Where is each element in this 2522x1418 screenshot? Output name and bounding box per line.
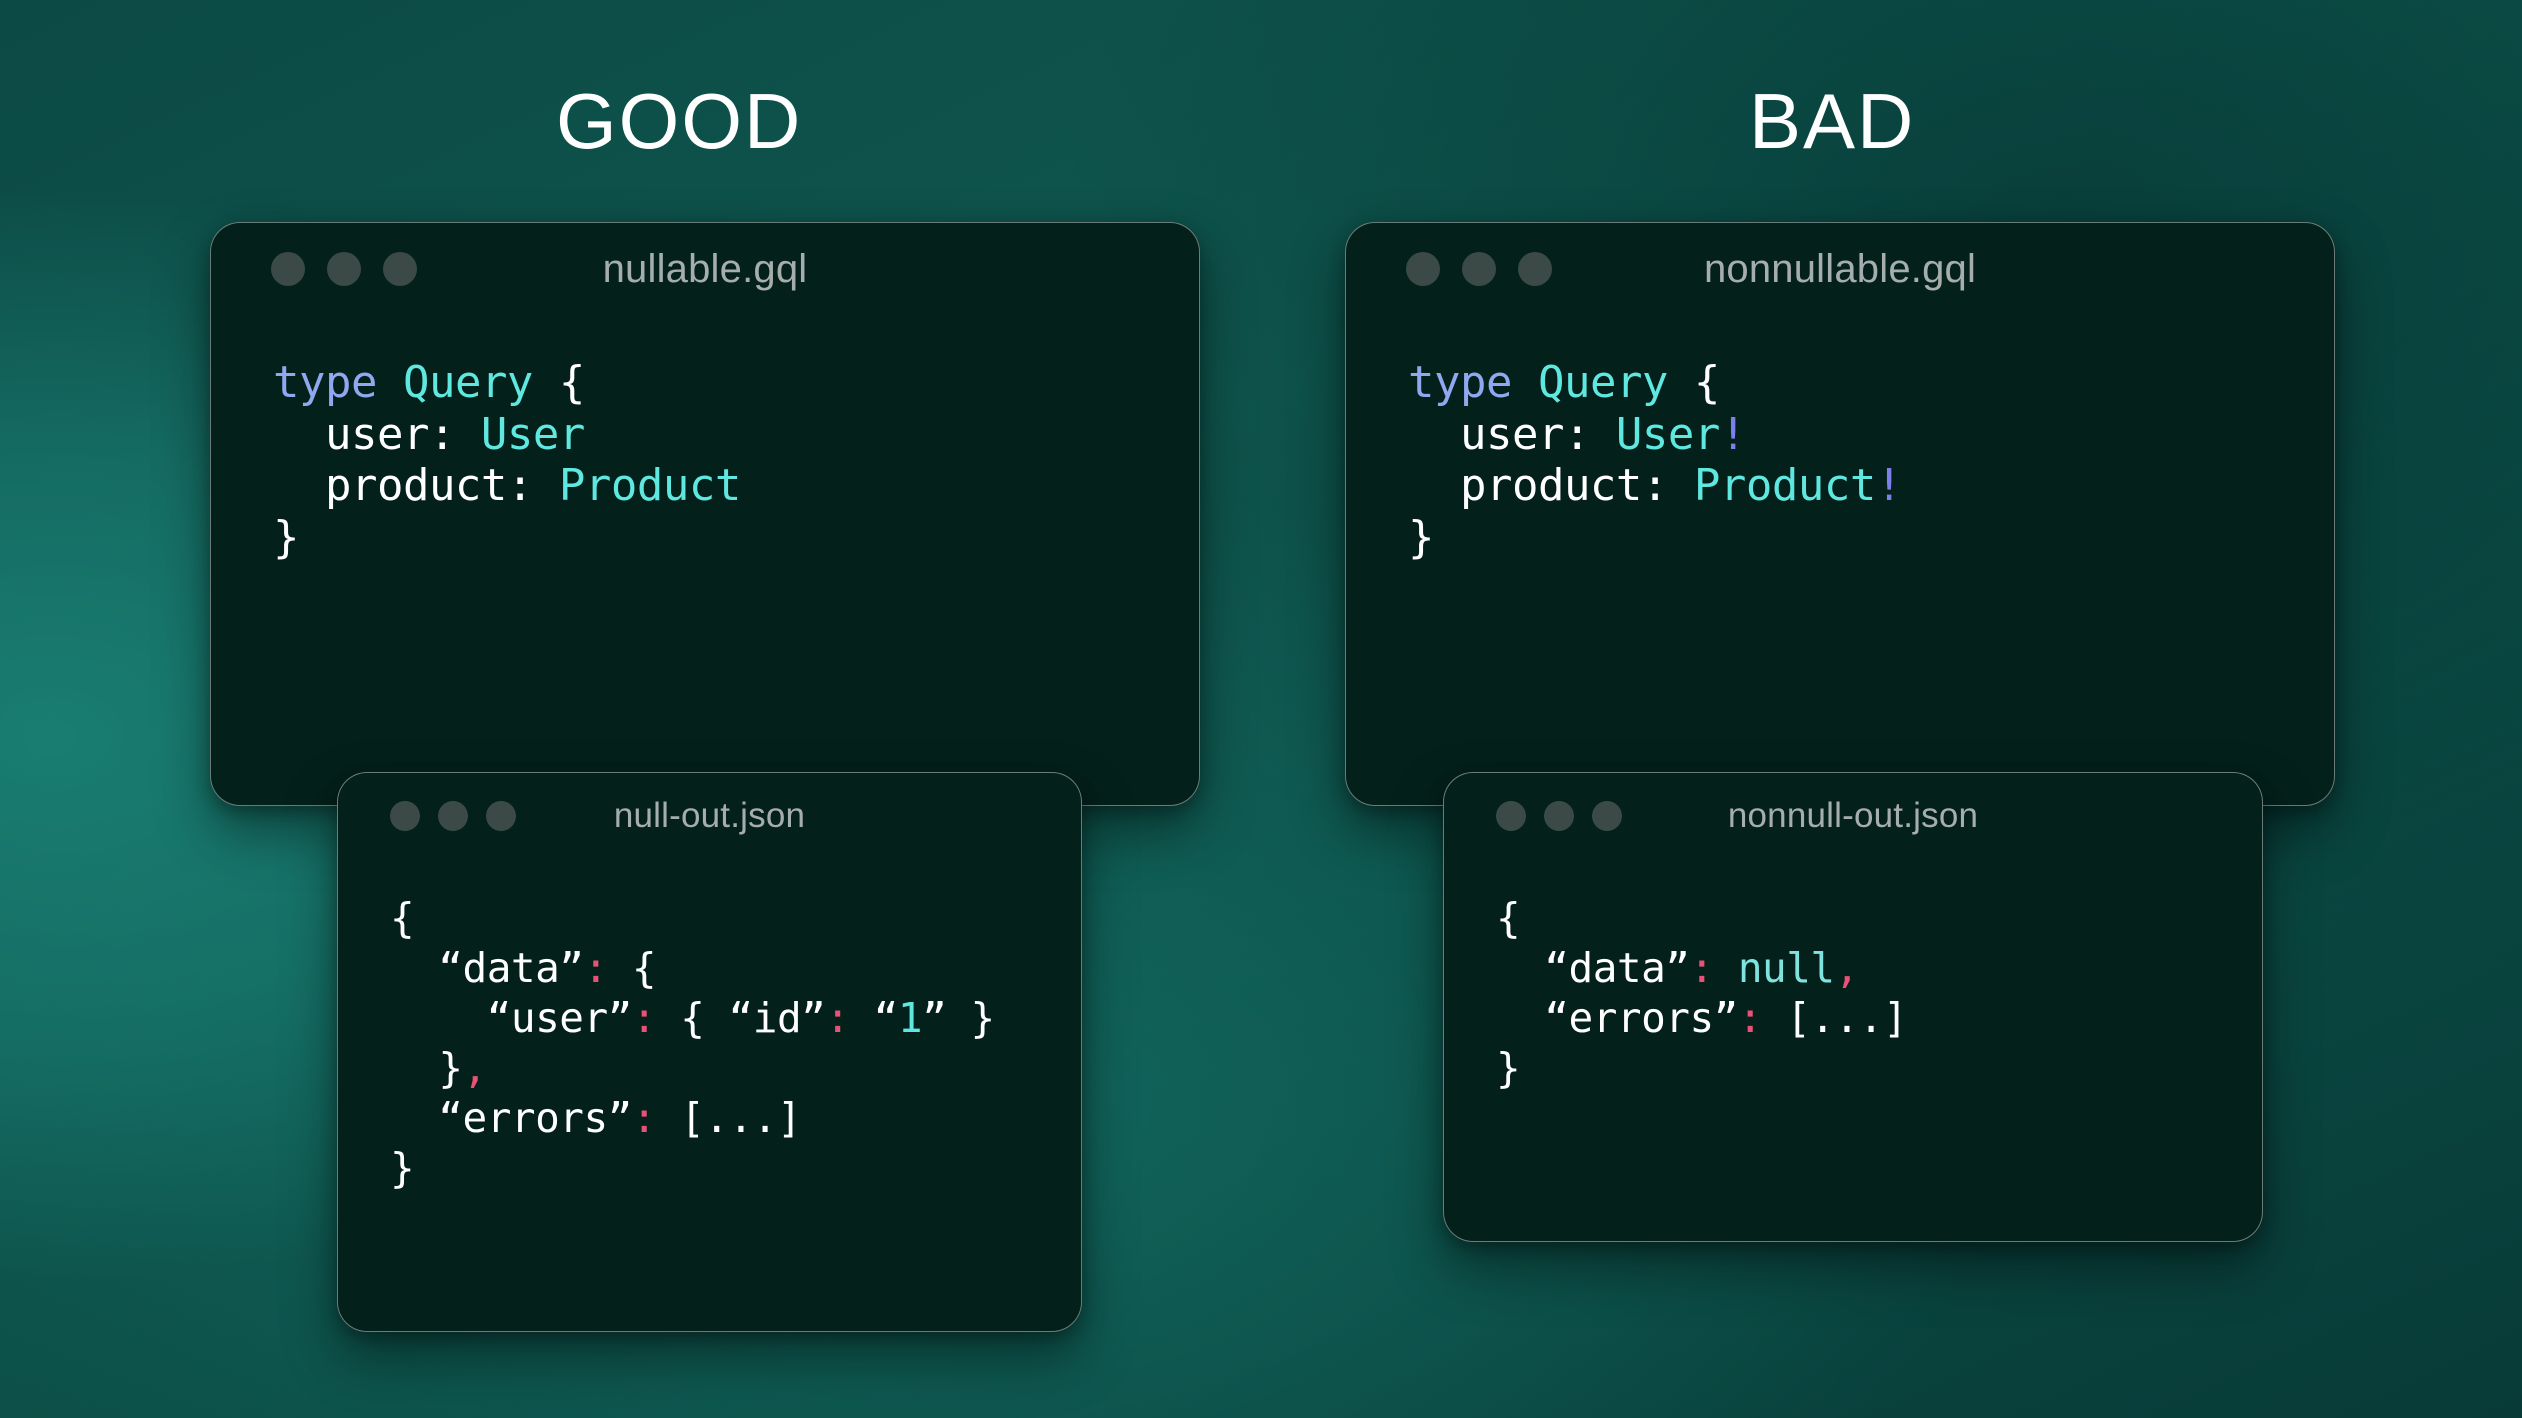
code-token: “ (850, 994, 898, 1042)
code-line: user: User (273, 409, 1199, 461)
code-token: , (1835, 944, 1859, 992)
code-token: user: (273, 409, 481, 460)
minimize-dot[interactable] (438, 801, 468, 831)
minimize-dot[interactable] (1462, 252, 1496, 286)
code-window-nonnull-out-json[interactable]: nonnull-out.json { “data”: null, “errors… (1443, 772, 2263, 1242)
traffic-lights (271, 252, 417, 286)
code-line: } (273, 512, 1199, 564)
close-dot[interactable] (1496, 801, 1526, 831)
minimize-dot[interactable] (327, 252, 361, 286)
code-token: null (1738, 944, 1835, 992)
code-line: user: User! (1408, 409, 2334, 461)
code-line: { (1496, 893, 2262, 943)
code-token: Product (1694, 460, 1876, 511)
code-token: “data” (1496, 944, 1689, 992)
code-block: type Query { user: User! product: Produc… (1346, 315, 2334, 564)
column-heading-bad: BAD (1749, 82, 1915, 160)
code-block: type Query { user: User product: Product… (211, 315, 1199, 564)
code-token: Query (1538, 357, 1668, 408)
code-token: : (1738, 994, 1762, 1042)
code-token: { (390, 894, 414, 942)
code-line: product: Product (273, 460, 1199, 512)
code-token: Product (559, 460, 741, 511)
close-dot[interactable] (390, 801, 420, 831)
code-token: ! (1720, 409, 1746, 460)
code-window-nonnullable-gql[interactable]: nonnullable.gql type Query { user: User!… (1345, 222, 2335, 806)
code-token (377, 357, 403, 408)
code-line: “user”: { “id”: “1” } (390, 993, 1081, 1043)
code-token: : (632, 994, 656, 1042)
traffic-lights (1406, 252, 1552, 286)
minimize-dot[interactable] (1544, 801, 1574, 831)
code-token: { “id” (656, 994, 825, 1042)
code-line: { (390, 893, 1081, 943)
code-token: User (481, 409, 585, 460)
code-token: user: (1408, 409, 1616, 460)
code-token: { (533, 357, 585, 408)
code-token: : (825, 994, 849, 1042)
code-token (1512, 357, 1538, 408)
code-token: : (632, 1094, 656, 1142)
code-token: , (463, 1044, 487, 1092)
code-token: { (608, 944, 656, 992)
code-token: : (583, 944, 607, 992)
code-token: product: (1408, 460, 1694, 511)
code-token: “data” (390, 944, 583, 992)
code-block: { “data”: null, “errors”: [...]} (1444, 859, 2262, 1093)
window-titlebar[interactable]: null-out.json (338, 773, 1081, 859)
code-token: “errors” (1496, 994, 1738, 1042)
code-token: User (1616, 409, 1720, 460)
code-window-nullable-gql[interactable]: nullable.gql type Query { user: User pro… (210, 222, 1200, 806)
code-token: { (1668, 357, 1720, 408)
code-line: }, (390, 1043, 1081, 1093)
code-token: : (1689, 944, 1713, 992)
code-token: type (1408, 357, 1512, 408)
code-line: product: Product! (1408, 460, 2334, 512)
code-line: type Query { (1408, 357, 2334, 409)
code-token: } (390, 1144, 414, 1192)
maximize-dot[interactable] (486, 801, 516, 831)
code-token: “errors” (390, 1094, 632, 1142)
close-dot[interactable] (1406, 252, 1440, 286)
code-line: “data”: null, (1496, 943, 2262, 993)
code-token: { (1496, 894, 1520, 942)
code-token: “user” (390, 994, 632, 1042)
code-token (1714, 944, 1738, 992)
column-heading-good: GOOD (556, 82, 802, 160)
code-token: type (273, 357, 377, 408)
close-dot[interactable] (271, 252, 305, 286)
code-token: ! (1876, 460, 1902, 511)
code-line: “data”: { (390, 943, 1081, 993)
code-line: } (1496, 1043, 2262, 1093)
code-token: } (1496, 1044, 1520, 1092)
traffic-lights (1496, 801, 1622, 831)
window-titlebar[interactable]: nullable.gql (211, 223, 1199, 315)
code-token: } (390, 1044, 463, 1092)
code-line: } (390, 1143, 1081, 1193)
code-token: } (273, 512, 299, 563)
traffic-lights (390, 801, 516, 831)
window-titlebar[interactable]: nonnullable.gql (1346, 223, 2334, 315)
code-token: [...] (656, 1094, 801, 1142)
code-line: } (1408, 512, 2334, 564)
maximize-dot[interactable] (383, 252, 417, 286)
code-window-null-out-json[interactable]: null-out.json { “data”: { “user”: { “id”… (337, 772, 1082, 1332)
code-token: [...] (1762, 994, 1907, 1042)
code-block: { “data”: { “user”: { “id”: “1” } }, “er… (338, 859, 1081, 1193)
code-token: 1 (898, 994, 922, 1042)
maximize-dot[interactable] (1518, 252, 1552, 286)
code-line: type Query { (273, 357, 1199, 409)
maximize-dot[interactable] (1592, 801, 1622, 831)
code-line: “errors”: [...] (390, 1093, 1081, 1143)
code-token: Query (403, 357, 533, 408)
window-titlebar[interactable]: nonnull-out.json (1444, 773, 2262, 859)
comparison-canvas: GOOD nullable.gql type Query { user: Use… (0, 0, 2522, 1418)
code-token: } (1408, 512, 1434, 563)
code-token: product: (273, 460, 559, 511)
code-line: “errors”: [...] (1496, 993, 2262, 1043)
code-token: ” } (922, 994, 995, 1042)
